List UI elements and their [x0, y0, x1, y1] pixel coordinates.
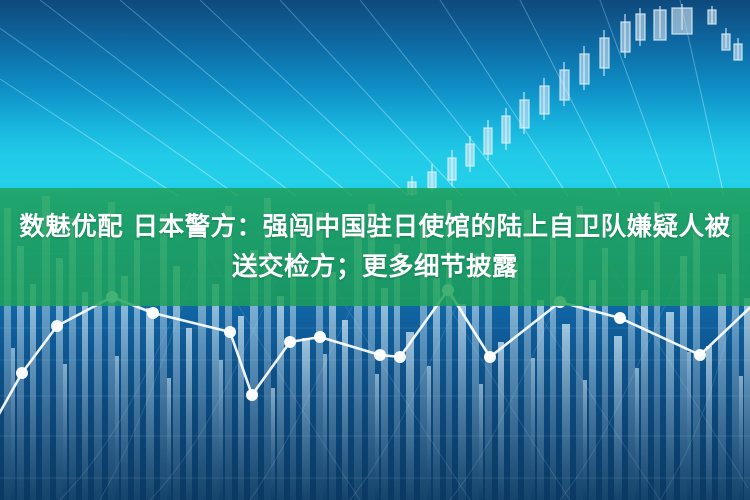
sky-gradient [0, 0, 750, 190]
headline-line-1: 数魅优配 日本警方：强闯中国驻日使馆的陆上自卫队嫌疑人被 [19, 207, 730, 247]
headline-block: 数魅优配 日本警方：强闯中国驻日使馆的陆上自卫队嫌疑人被 送交检方；更多细节披露 [0, 188, 750, 306]
headline-line-2: 送交检方；更多细节披露 [232, 247, 518, 287]
perspective-grid [0, 0, 750, 196]
candlestick-series [0, 0, 750, 210]
news-banner-image: 数魅优配 日本警方：强闯中国驻日使馆的陆上自卫队嫌疑人被 送交检方；更多细节披露 [0, 0, 750, 500]
